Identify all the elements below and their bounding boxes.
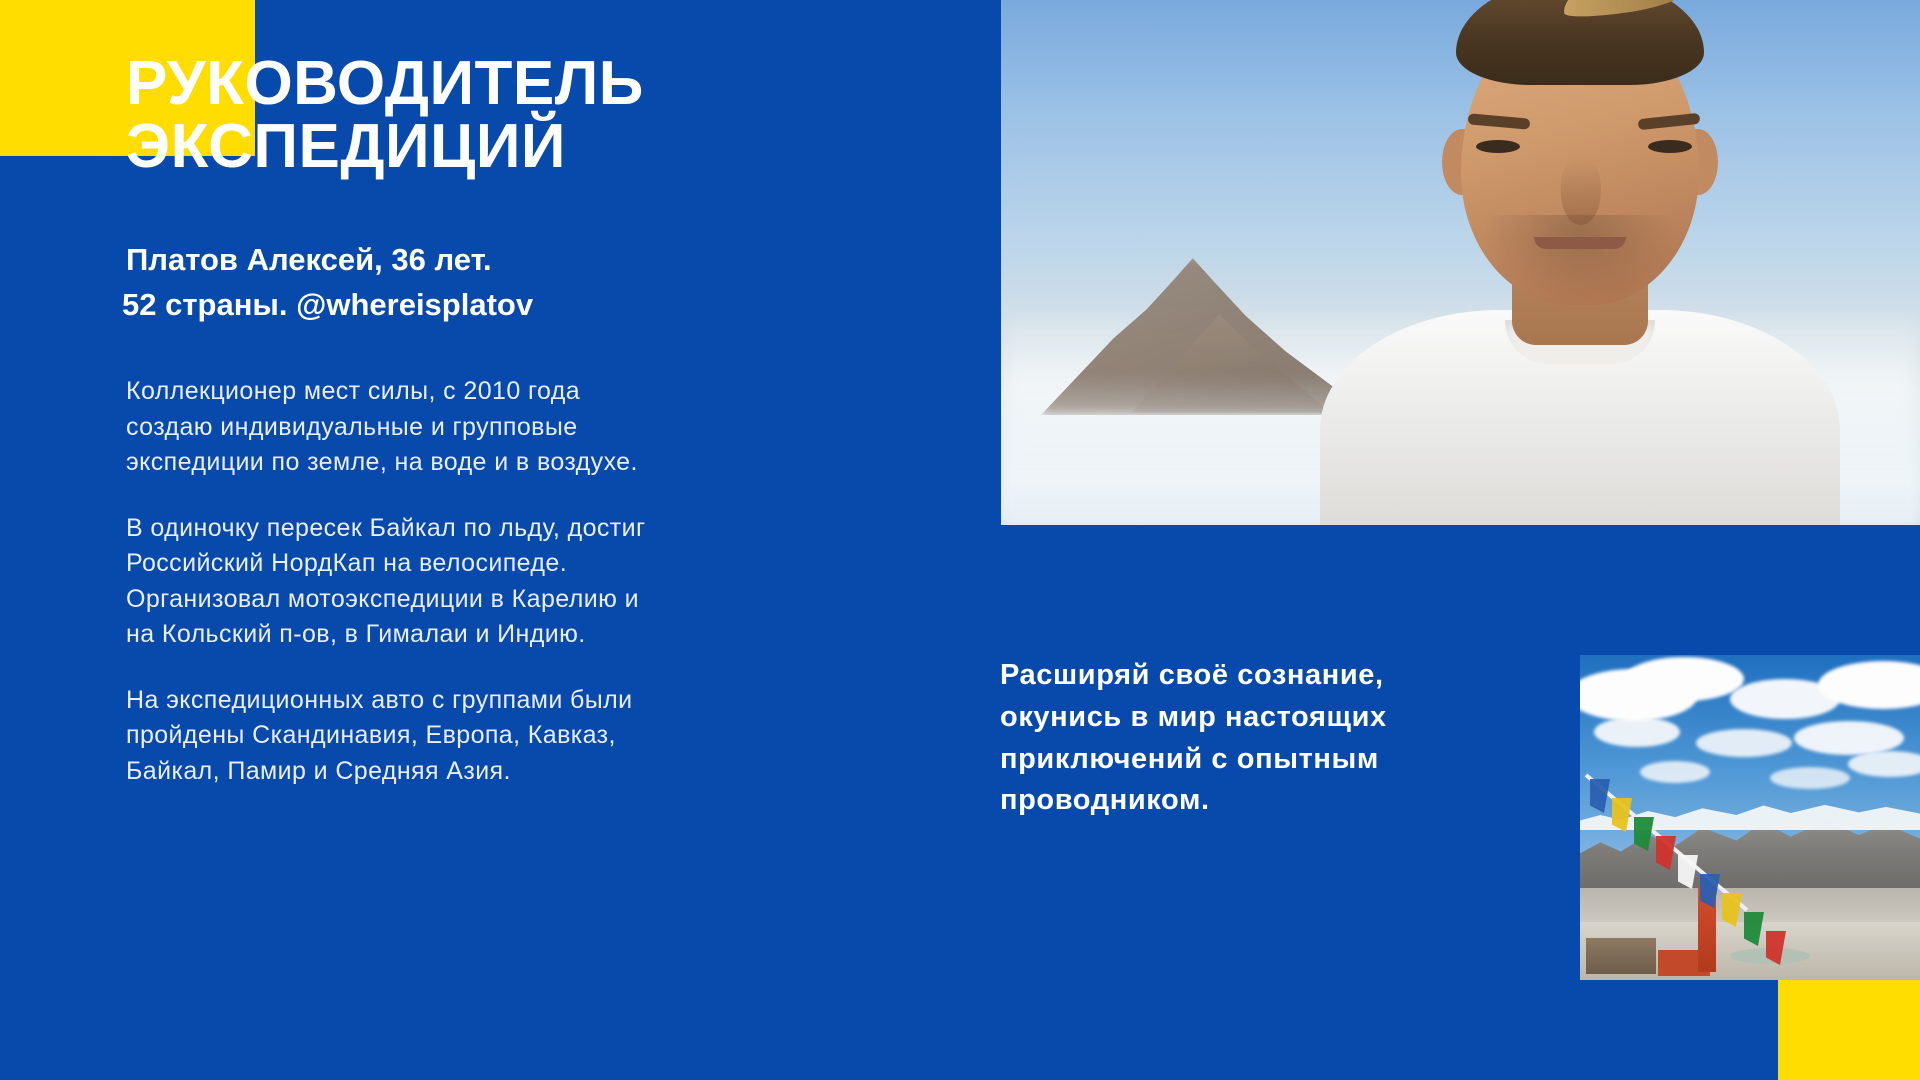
biography-text: Коллекционер мест силы, с 2010 года созд…: [126, 374, 946, 789]
landscape-photo: [1580, 655, 1920, 980]
mouth: [1534, 237, 1626, 249]
cloud-icon: [1640, 761, 1710, 783]
portrait-photo: [1001, 0, 1920, 525]
person-name-age: Платов Алексей, 36 лет.: [126, 238, 946, 283]
page-title: РУКОВОДИТЕЛЬ ЭКСПЕДИЦИЙ: [126, 52, 946, 178]
bio-paragraph-1: Коллекционер мест силы, с 2010 года созд…: [126, 374, 946, 481]
person-summary: Платов Алексей, 36 лет. 52 страны. @wher…: [126, 238, 946, 328]
slide-canvas: РУКОВОДИТЕЛЬ ЭКСПЕДИЦИЙ Платов Алексей, …: [0, 0, 1920, 1080]
nose: [1561, 159, 1601, 225]
cloud-icon: [1794, 721, 1904, 755]
cloud-icon: [1696, 729, 1792, 757]
bio-paragraph-2: В одиночку пересек Байкал по льду, дости…: [126, 511, 946, 653]
cloud-icon: [1770, 767, 1850, 789]
person-figure: [1300, 5, 1860, 525]
bio-paragraph-3: На экспедиционных авто с группами были п…: [126, 683, 946, 790]
eye-right: [1648, 140, 1692, 153]
cloud-icon: [1594, 717, 1680, 747]
stone-cairn: [1586, 938, 1656, 974]
left-content-column: РУКОВОДИТЕЛЬ ЭКСПЕДИЦИЙ Платов Алексей, …: [126, 52, 946, 789]
tagline-text: Расширяй своё сознание, окунись в мир на…: [1000, 655, 1575, 822]
cloud-icon: [1624, 657, 1744, 701]
person-countries-handle: 52 страны. @whereisplatov: [122, 283, 946, 328]
yellow-accent-bottom-right-icon: [1778, 970, 1920, 1080]
eye-left: [1476, 140, 1520, 153]
